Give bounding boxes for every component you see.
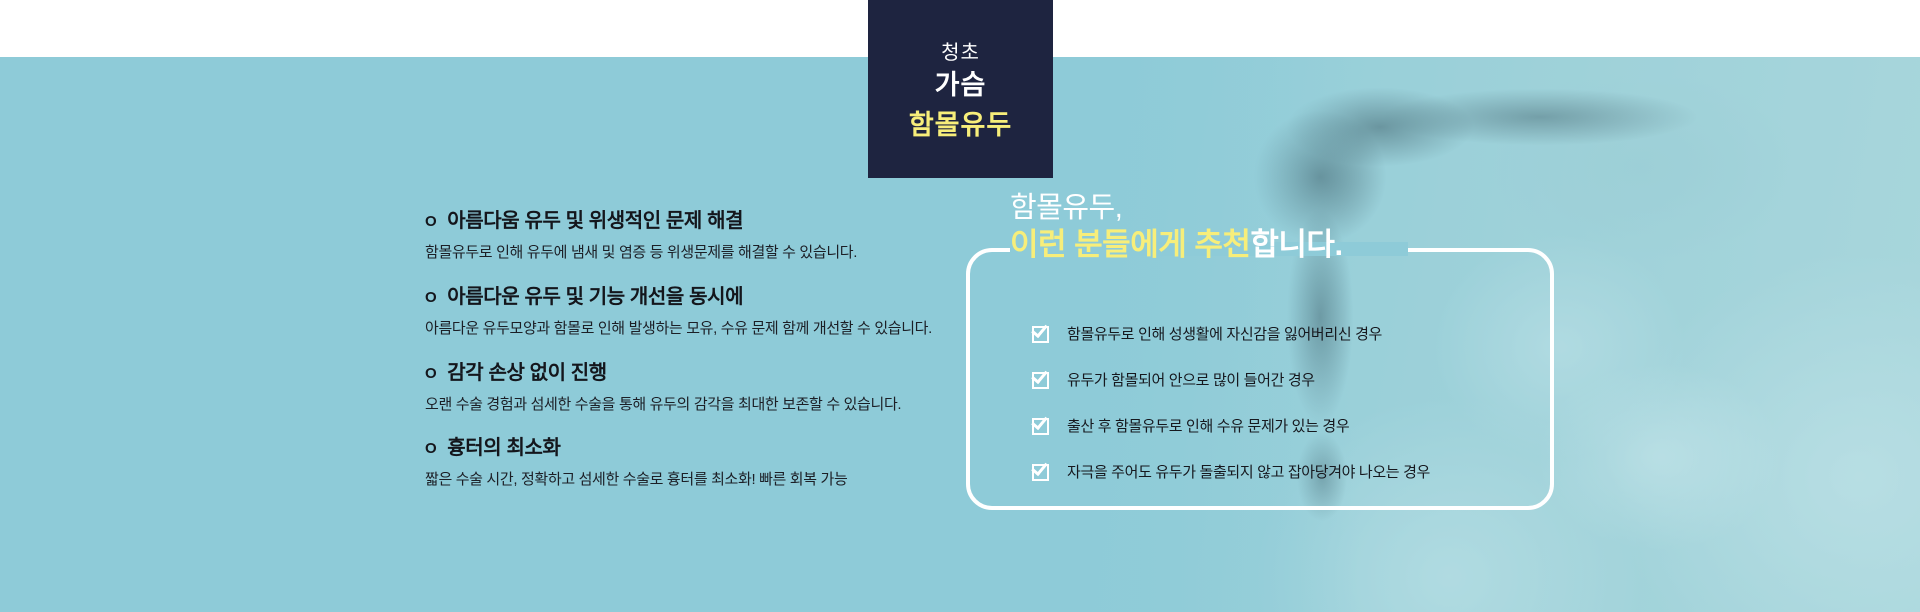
feature-description: 오랜 수술 경험과 섬세한 수술을 통해 유두의 감각을 최대한 보존할 수 있… [425, 394, 935, 416]
recommendation-panel: 함몰유두, 이런 분들에게 추천합니다. 함몰유두로 인해 성생활에 자신감을 … [966, 192, 1554, 510]
checkbox-checked-icon [1032, 416, 1051, 435]
feature-heading: O 아름다움 유두 및 위생적인 문제 해결 [425, 208, 945, 235]
feature-description: 아름다운 유두모양과 함몰로 인해 발생하는 모유, 수유 문제 함께 개선할 … [425, 318, 935, 340]
recommendation-list: 함몰유두로 인해 성생활에 자신감을 잃어버리신 경우 유두가 함몰되어 안으로… [1032, 310, 1430, 494]
checkbox-checked-icon [1032, 370, 1051, 389]
circle-outline-icon: O [425, 366, 436, 381]
feature-item: O 아름다운 유두 및 기능 개선을 동시에 아름다운 유두모양과 함몰로 인해… [425, 284, 945, 340]
feature-title: 아름다움 유두 및 위생적인 문제 해결 [447, 208, 743, 235]
recommendation-heading-accent: 이런 분들에게 추천 [1010, 227, 1250, 262]
feature-heading: O 감각 손상 없이 진행 [425, 360, 945, 387]
feature-title: 감각 손상 없이 진행 [447, 360, 606, 387]
feature-list: O 아름다움 유두 및 위생적인 문제 해결 함몰유두로 인해 유두에 냄새 및… [425, 208, 945, 491]
recommendation-item: 함몰유두로 인해 성생활에 자신감을 잃어버리신 경우 [1032, 310, 1430, 356]
circle-outline-icon: O [425, 290, 436, 305]
recommendation-heading: 함몰유두, 이런 분들에게 추천합니다. [1010, 192, 1343, 263]
recommendation-heading-line2: 이런 분들에게 추천합니다. [1010, 227, 1343, 263]
recommendation-heading-tail: 합니다. [1250, 227, 1342, 262]
recommendation-item: 유두가 함몰되어 안으로 많이 들어간 경우 [1032, 356, 1430, 402]
feature-title: 흉터의 최소화 [447, 435, 560, 462]
feature-title: 아름다운 유두 및 기능 개선을 동시에 [447, 284, 743, 311]
promo-banner: 청초 가슴 함몰유두 O 아름다움 유두 및 위생적인 문제 해결 함몰유두로 … [0, 0, 1920, 612]
checkbox-checked-icon [1032, 324, 1051, 343]
feature-item: O 아름다움 유두 및 위생적인 문제 해결 함몰유두로 인해 유두에 냄새 및… [425, 208, 945, 264]
badge-line-3: 함몰유두 [909, 108, 1012, 143]
feature-description: 함몰유두로 인해 유두에 냄새 및 염증 등 위생문제를 해결할 수 있습니다. [425, 242, 935, 264]
feature-item: O 흉터의 최소화 짧은 수술 시간, 정확하고 섬세한 수술로 흉터를 최소화… [425, 435, 945, 491]
recommendation-item-label: 함몰유두로 인해 성생활에 자신감을 잃어버리신 경우 [1067, 323, 1382, 344]
title-badge: 청초 가슴 함몰유두 [868, 0, 1053, 178]
badge-line-1: 청초 [941, 41, 980, 66]
recommendation-heading-line1: 함몰유두, [1010, 192, 1343, 226]
recommendation-item-label: 자극을 주어도 유두가 돌출되지 않고 잡아당겨야 나오는 경우 [1067, 461, 1430, 482]
checkbox-checked-icon [1032, 462, 1051, 481]
feature-item: O 감각 손상 없이 진행 오랜 수술 경험과 섬세한 수술을 통해 유두의 감… [425, 360, 945, 416]
recommendation-item-label: 출산 후 함몰유두로 인해 수유 문제가 있는 경우 [1067, 415, 1349, 436]
circle-outline-icon: O [425, 214, 436, 229]
badge-line-2: 가슴 [935, 68, 987, 103]
circle-outline-icon: O [425, 441, 436, 456]
feature-description: 짧은 수술 시간, 정확하고 섬세한 수술로 흉터를 최소화! 빠른 회복 가능 [425, 469, 935, 491]
recommendation-item: 출산 후 함몰유두로 인해 수유 문제가 있는 경우 [1032, 402, 1430, 448]
recommendation-item-label: 유두가 함몰되어 안으로 많이 들어간 경우 [1067, 369, 1315, 390]
feature-heading: O 아름다운 유두 및 기능 개선을 동시에 [425, 284, 945, 311]
feature-heading: O 흉터의 최소화 [425, 435, 945, 462]
recommendation-item: 자극을 주어도 유두가 돌출되지 않고 잡아당겨야 나오는 경우 [1032, 448, 1430, 494]
